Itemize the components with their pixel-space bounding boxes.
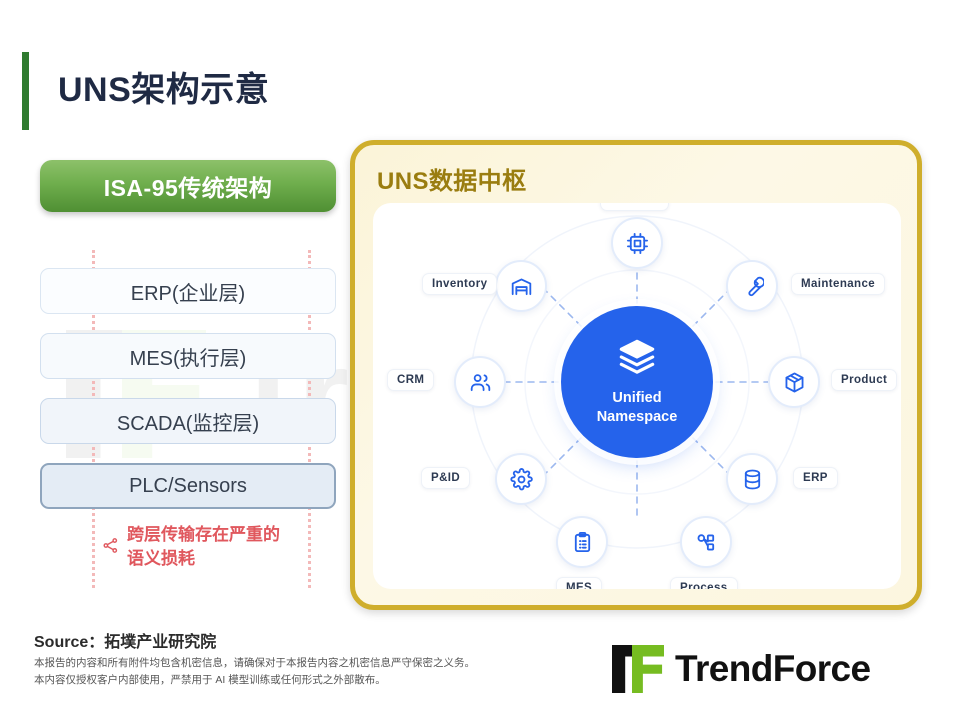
- uns-hub-card: Machine Maintenance: [373, 203, 901, 589]
- uns-hub-panel: UNS数据中枢: [350, 140, 922, 610]
- node-label-process: Process: [670, 577, 738, 589]
- trendforce-logo-text: TrendForce: [675, 648, 871, 690]
- uns-panel-title: UNS数据中枢: [377, 161, 526, 196]
- node-label-inventory: Inventory: [422, 273, 497, 295]
- warning-line-1: 跨层传输存在严重的: [127, 523, 280, 547]
- node-label-machine: Machine: [600, 203, 669, 211]
- node-label-maintenance: Maintenance: [791, 273, 885, 295]
- disclaimer-line-2: 本内容仅授权客户内部使用，严禁用于 AI 模型训练或任何形式之外部散布。: [34, 672, 594, 689]
- node-pid[interactable]: [495, 453, 547, 505]
- share-nodes-icon: [102, 537, 119, 559]
- node-label-product: Product: [831, 369, 897, 391]
- core-label-line-2: Namespace: [597, 408, 678, 427]
- node-erp[interactable]: [726, 453, 778, 505]
- node-process[interactable]: [680, 516, 732, 568]
- trendforce-logo-mark: [612, 645, 664, 693]
- node-label-mes: MES: [556, 577, 602, 589]
- node-label-erp: ERP: [793, 467, 838, 489]
- warning-text: 跨层传输存在严重的 语义损耗: [127, 523, 280, 571]
- slide-root: TrendForce UNS架构示意 ISA-95传统架构 ERP(企业层) M…: [0, 0, 960, 720]
- warehouse-icon: [510, 275, 533, 298]
- workflow-nodes-icon: [695, 531, 718, 554]
- node-label-pid: P&ID: [421, 467, 470, 489]
- node-crm[interactable]: [454, 356, 506, 408]
- isa95-panel: ISA-95传统架构 ERP(企业层) MES(执行层) SCADA(监控层) …: [40, 160, 336, 590]
- clipboard-list-icon: [571, 531, 594, 554]
- layer-label: SCADA(监控层): [117, 407, 259, 436]
- node-label-crm: CRM: [387, 369, 434, 391]
- layer-box-scada[interactable]: SCADA(监控层): [40, 398, 336, 444]
- layer-box-mes[interactable]: MES(执行层): [40, 333, 336, 379]
- cpu-chip-icon: [626, 232, 649, 255]
- layer-label: MES(执行层): [130, 342, 247, 371]
- users-icon: [469, 371, 492, 394]
- node-mes[interactable]: [556, 516, 608, 568]
- layers-stack-icon: [617, 337, 657, 382]
- isa95-header: ISA-95传统架构: [40, 160, 336, 212]
- isa95-layer-stack: ERP(企业层) MES(执行层) SCADA(监控层) PLC/Sensors: [40, 268, 336, 528]
- disclaimer: 本报告的内容和所有附件均包含机密信息，请确保对于本报告内容之机密信息严守保密之义…: [34, 655, 594, 689]
- title-accent-bar: [22, 52, 29, 130]
- page-title: UNS架构示意: [58, 62, 269, 111]
- semantic-loss-warning: 跨层传输存在严重的 语义损耗: [102, 523, 342, 571]
- warning-line-2: 语义损耗: [127, 547, 280, 571]
- core-label-line-1: Unified: [612, 389, 661, 408]
- package-box-icon: [783, 371, 806, 394]
- node-product[interactable]: [768, 356, 820, 408]
- layer-label: PLC/Sensors: [129, 475, 247, 498]
- trendforce-logo: TrendForce: [612, 645, 871, 693]
- database-icon: [741, 468, 764, 491]
- node-machine[interactable]: [611, 217, 663, 269]
- gear-icon: [510, 468, 533, 491]
- wrench-icon: [741, 275, 764, 298]
- node-inventory[interactable]: [495, 260, 547, 312]
- node-maintenance[interactable]: [726, 260, 778, 312]
- isa95-header-label: ISA-95传统架构: [104, 169, 273, 203]
- unified-namespace-core[interactable]: Unified Namespace: [561, 306, 713, 458]
- layer-box-erp[interactable]: ERP(企业层): [40, 268, 336, 314]
- layer-label: ERP(企业层): [131, 277, 245, 306]
- disclaimer-line-1: 本报告的内容和所有附件均包含机密信息，请确保对于本报告内容之机密信息严守保密之义…: [34, 655, 594, 672]
- source-line: Source：拓墣产业研究院: [34, 628, 216, 652]
- layer-box-plc-sensors[interactable]: PLC/Sensors: [40, 463, 336, 509]
